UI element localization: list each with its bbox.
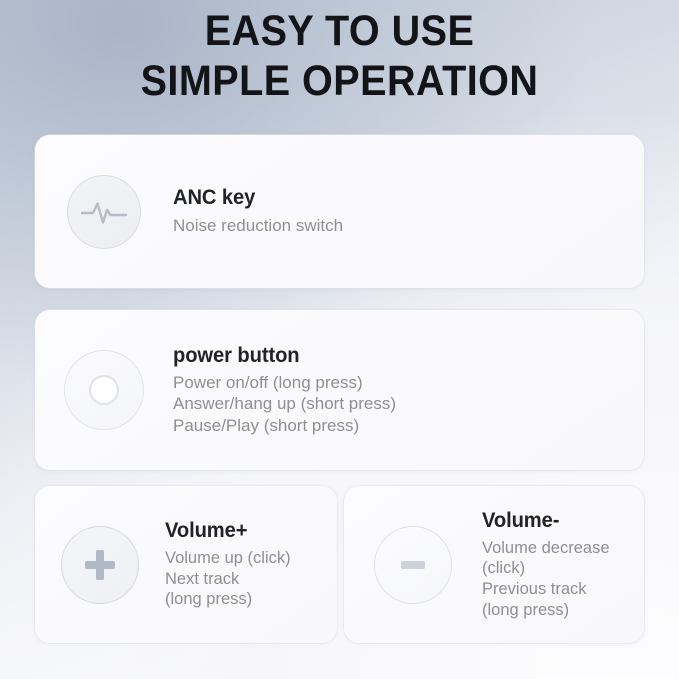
volume-up-line-3: (long press)	[165, 589, 337, 610]
feature-card-volume-down: Volume- Volume decrease (click) Previous…	[344, 486, 644, 643]
volume-up-icon-container	[35, 526, 165, 604]
volume-down-heading: Volume-	[482, 509, 638, 534]
power-line-3: Pause/Play (short press)	[173, 415, 644, 436]
volume-up-line-1: Volume up (click)	[165, 548, 337, 569]
power-icon-container	[35, 350, 173, 430]
power-line-1: Power on/off (long press)	[173, 372, 644, 393]
pulse-waveform-icon	[81, 197, 127, 227]
anc-text-block: ANC key Noise reduction switch	[173, 186, 644, 236]
volume-up-line-2: Next track	[165, 569, 337, 590]
volume-up-text-block: Volume+ Volume up (click) Next track (lo…	[165, 519, 337, 610]
page-title: EASY TO USE SIMPLE OPERATION	[0, 6, 679, 106]
feature-card-anc-key: ANC key Noise reduction switch	[35, 135, 644, 288]
power-heading: power button	[173, 344, 625, 369]
power-text-block: power button Power on/off (long press) A…	[173, 344, 644, 436]
volume-down-text-block: Volume- Volume decrease (click) Previous…	[482, 509, 644, 620]
power-line-2: Answer/hang up (short press)	[173, 393, 644, 414]
volume-down-line-2: (click)	[482, 558, 644, 579]
anc-line-1: Noise reduction switch	[173, 215, 644, 236]
volume-down-line-1: Volume decrease	[482, 538, 644, 559]
anc-heading: ANC key	[173, 186, 625, 211]
volume-down-button-graphic	[374, 526, 452, 604]
title-line-1: EASY TO USE	[27, 6, 652, 56]
volume-down-icon-container	[344, 526, 482, 604]
title-line-2: SIMPLE OPERATION	[27, 56, 652, 106]
volume-up-button-graphic	[61, 526, 139, 604]
volume-down-line-3: Previous track	[482, 579, 644, 600]
volume-up-heading: Volume+	[165, 519, 330, 544]
volume-down-line-4: (long press)	[482, 600, 644, 621]
power-ring-icon	[89, 375, 119, 405]
feature-card-volume-up: Volume+ Volume up (click) Next track (lo…	[35, 486, 337, 643]
anc-icon-container	[35, 175, 173, 249]
power-button-graphic	[64, 350, 144, 430]
anc-key-button-graphic	[67, 175, 141, 249]
minus-icon	[401, 561, 425, 569]
infographic-page: EASY TO USE SIMPLE OPERATION ANC key Noi…	[0, 0, 679, 679]
plus-icon	[85, 550, 115, 580]
feature-card-power-button: power button Power on/off (long press) A…	[35, 310, 644, 470]
